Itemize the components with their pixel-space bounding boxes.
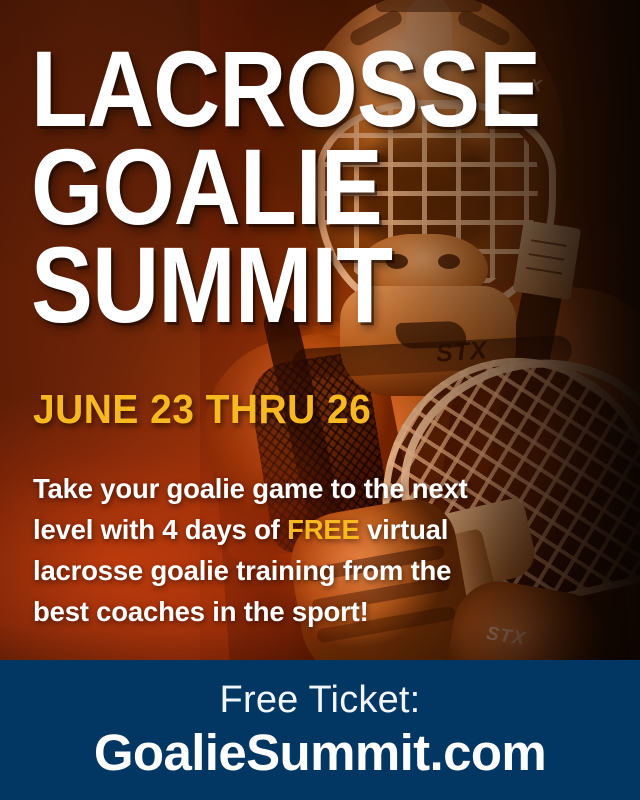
promotional-poster: X STX STX LACROSSE GOALIE SUMMIT JUNE 23…	[0, 0, 640, 800]
event-dateline: JUNE 23 THRU 26	[33, 386, 371, 433]
cta-domain-link[interactable]: GoalieSummit.com	[94, 724, 546, 782]
description-highlight-free: FREE	[287, 514, 360, 545]
headline-line-2: GOALIE	[31, 138, 513, 236]
headline-line-3: SUMMIT	[31, 236, 513, 334]
cta-label: Free Ticket:	[220, 678, 421, 722]
poster-content: LACROSSE GOALIE SUMMIT JUNE 23 THRU 26 T…	[0, 0, 640, 800]
poster-headline: LACROSSE GOALIE SUMMIT	[31, 40, 591, 334]
poster-description: Take your goalie game to the next level …	[33, 468, 473, 632]
headline-line-1: LACROSSE	[31, 40, 513, 138]
call-to-action-bar: Free Ticket: GoalieSummit.com	[0, 660, 640, 800]
